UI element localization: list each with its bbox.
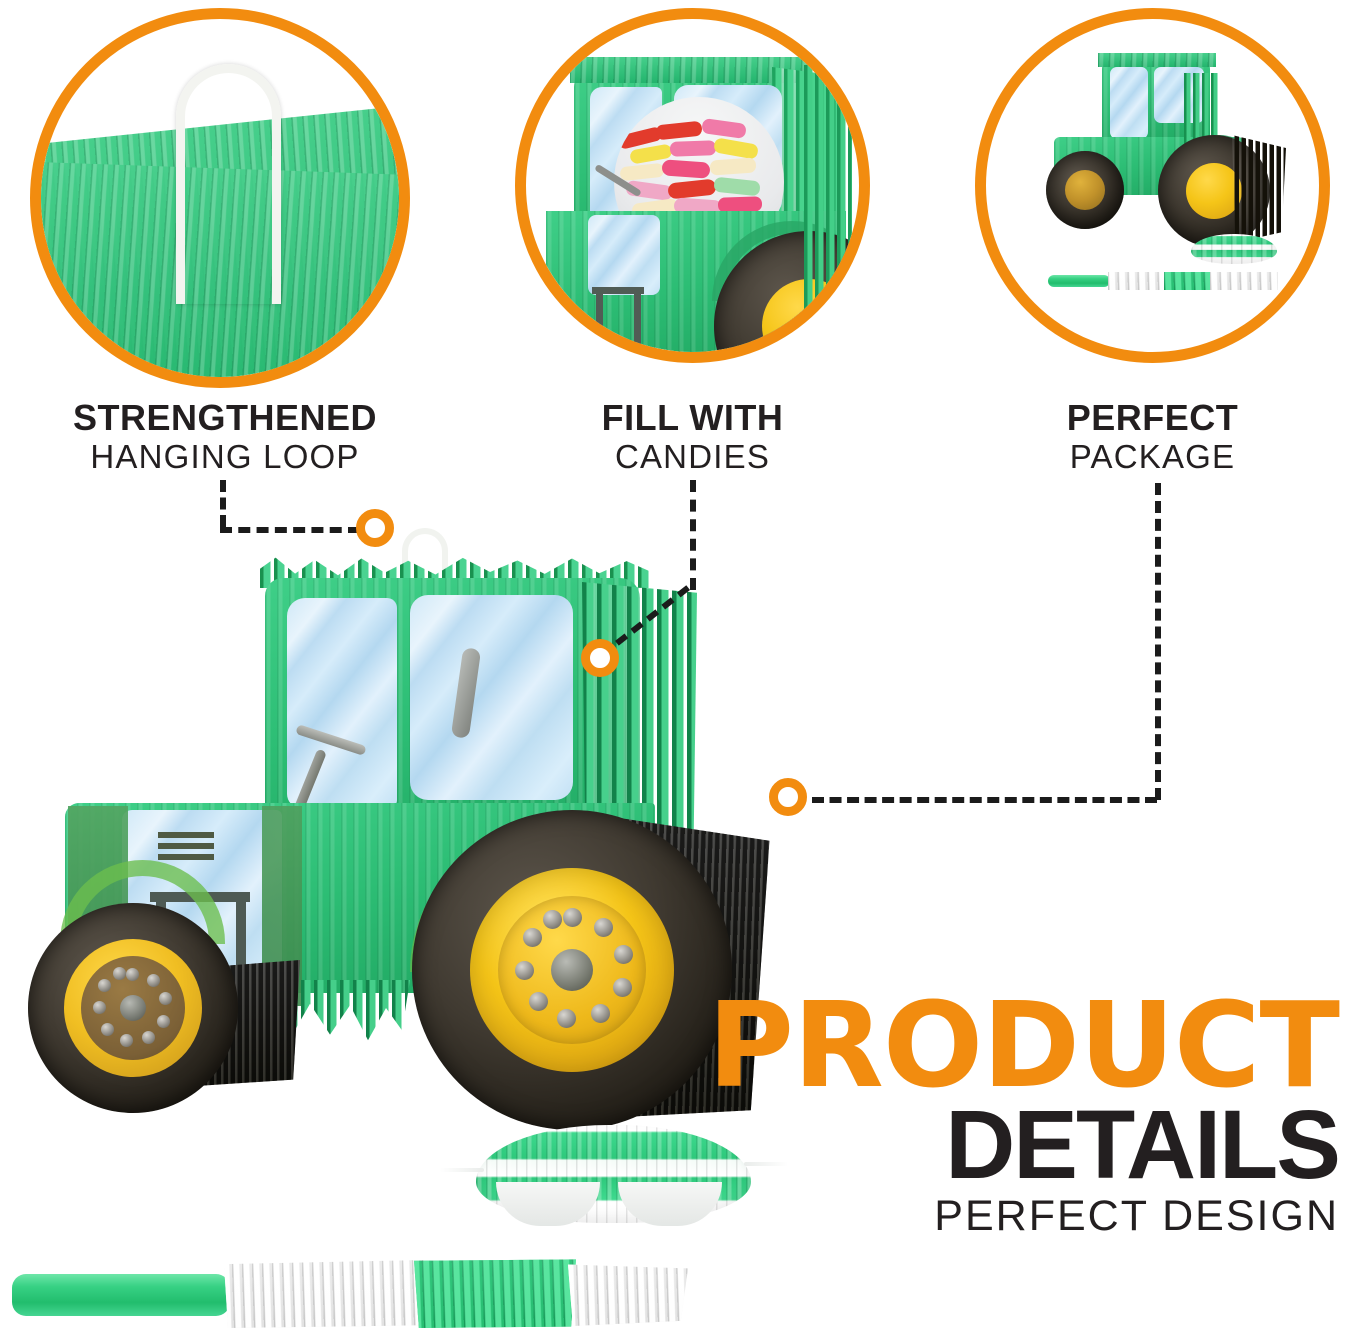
feature-photo-circle-2: [515, 8, 870, 363]
feature-title-2: FILL WITH: [470, 398, 915, 438]
callout-marker-hanging-loop[interactable]: [356, 509, 394, 547]
feature-photo-circle-3: [975, 8, 1330, 363]
lug-bolt: [126, 968, 139, 981]
feature-subtitle-2: CANDIES: [470, 438, 915, 476]
stick-handle: [12, 1274, 230, 1316]
leader-line-hanging-loop-horizontal: [220, 527, 360, 533]
blindfold-strap: [440, 1168, 484, 1172]
lug-bolt: [543, 910, 562, 929]
wheel-hub: [470, 868, 674, 1072]
engine-hood-vents-icon: [158, 854, 214, 860]
green-fringe-icon: [804, 65, 852, 315]
leader-line-candies-vertical: [690, 480, 696, 590]
front-wheel: [28, 903, 238, 1113]
lug-bolt: [120, 1034, 133, 1047]
lug-bolt: [591, 1004, 610, 1023]
wheel-hub: [64, 939, 202, 1077]
lug-bolt: [614, 945, 633, 964]
stick-white-fringe: [224, 1260, 424, 1328]
lug-bolt: [157, 1015, 170, 1028]
lug-bolt: [98, 979, 111, 992]
lug-bolt: [93, 1001, 106, 1014]
leader-line-hanging-loop-vertical: [220, 480, 226, 527]
stick-green-fringe: [414, 1258, 576, 1328]
lug-bolt: [515, 961, 534, 980]
cabin-step-icon: [596, 291, 603, 347]
tractor-icon: [1034, 51, 1304, 251]
feature-caption-1: STRENGTHENED HANGING LOOP: [0, 398, 450, 476]
stick-white-fringe: [568, 1262, 688, 1326]
package-photo: [986, 19, 1319, 352]
lug-bolt: [594, 918, 613, 937]
feature-subtitle-1: HANGING LOOP: [0, 438, 450, 476]
lug-bolt: [113, 967, 126, 980]
infographic-canvas: STRENGTHENED HANGING LOOP: [0, 0, 1353, 1337]
blindfold-icon: [1191, 234, 1277, 264]
feature-photo-circle-1: [30, 8, 410, 388]
feature-subtitle-3: PACKAGE: [930, 438, 1353, 476]
rear-wheel: [412, 810, 732, 1130]
stick-icon: [1048, 272, 1278, 290]
leader-line-package-horizontal: [812, 797, 1157, 803]
callout-marker-package[interactable]: [769, 778, 807, 816]
cabin-glass-window: [287, 598, 397, 808]
page-title-product: PRODUCT: [707, 991, 1339, 1099]
lug-bolt: [529, 992, 548, 1011]
lug-bolt: [142, 1031, 155, 1044]
hanging-loop-icon: [176, 64, 281, 304]
cabin-glass-window: [588, 215, 660, 295]
feature-caption-3: PERFECT PACKAGE: [930, 398, 1353, 476]
lug-bolt: [613, 978, 632, 997]
leader-line-package-vertical: [1155, 483, 1161, 800]
feature-title-1: STRENGTHENED: [0, 398, 450, 438]
hanging-loop-photo: [41, 19, 399, 377]
lug-bolt: [159, 992, 172, 1005]
cabin-step-icon: [634, 291, 641, 347]
product-details-title-block: PRODUCT DETAILS PERFECT DESIGN: [707, 991, 1339, 1241]
engine-hood-vents-icon: [158, 832, 214, 838]
lug-bolt: [523, 928, 542, 947]
page-subtitle: PERFECT DESIGN: [707, 1191, 1339, 1241]
lug-bolt: [147, 974, 160, 987]
candy-fill-photo: [526, 19, 859, 352]
lug-bolt: [101, 1023, 114, 1036]
cabin-glass-window: [410, 595, 573, 800]
lug-bolt: [557, 1009, 576, 1028]
lug-bolt: [563, 908, 582, 927]
feature-caption-2: FILL WITH CANDIES: [470, 398, 915, 476]
pinata-stick: [12, 1258, 688, 1330]
callout-marker-candy-fill[interactable]: [581, 639, 619, 677]
engine-hood-vents-icon: [158, 843, 214, 849]
feature-title-3: PERFECT: [930, 398, 1353, 438]
